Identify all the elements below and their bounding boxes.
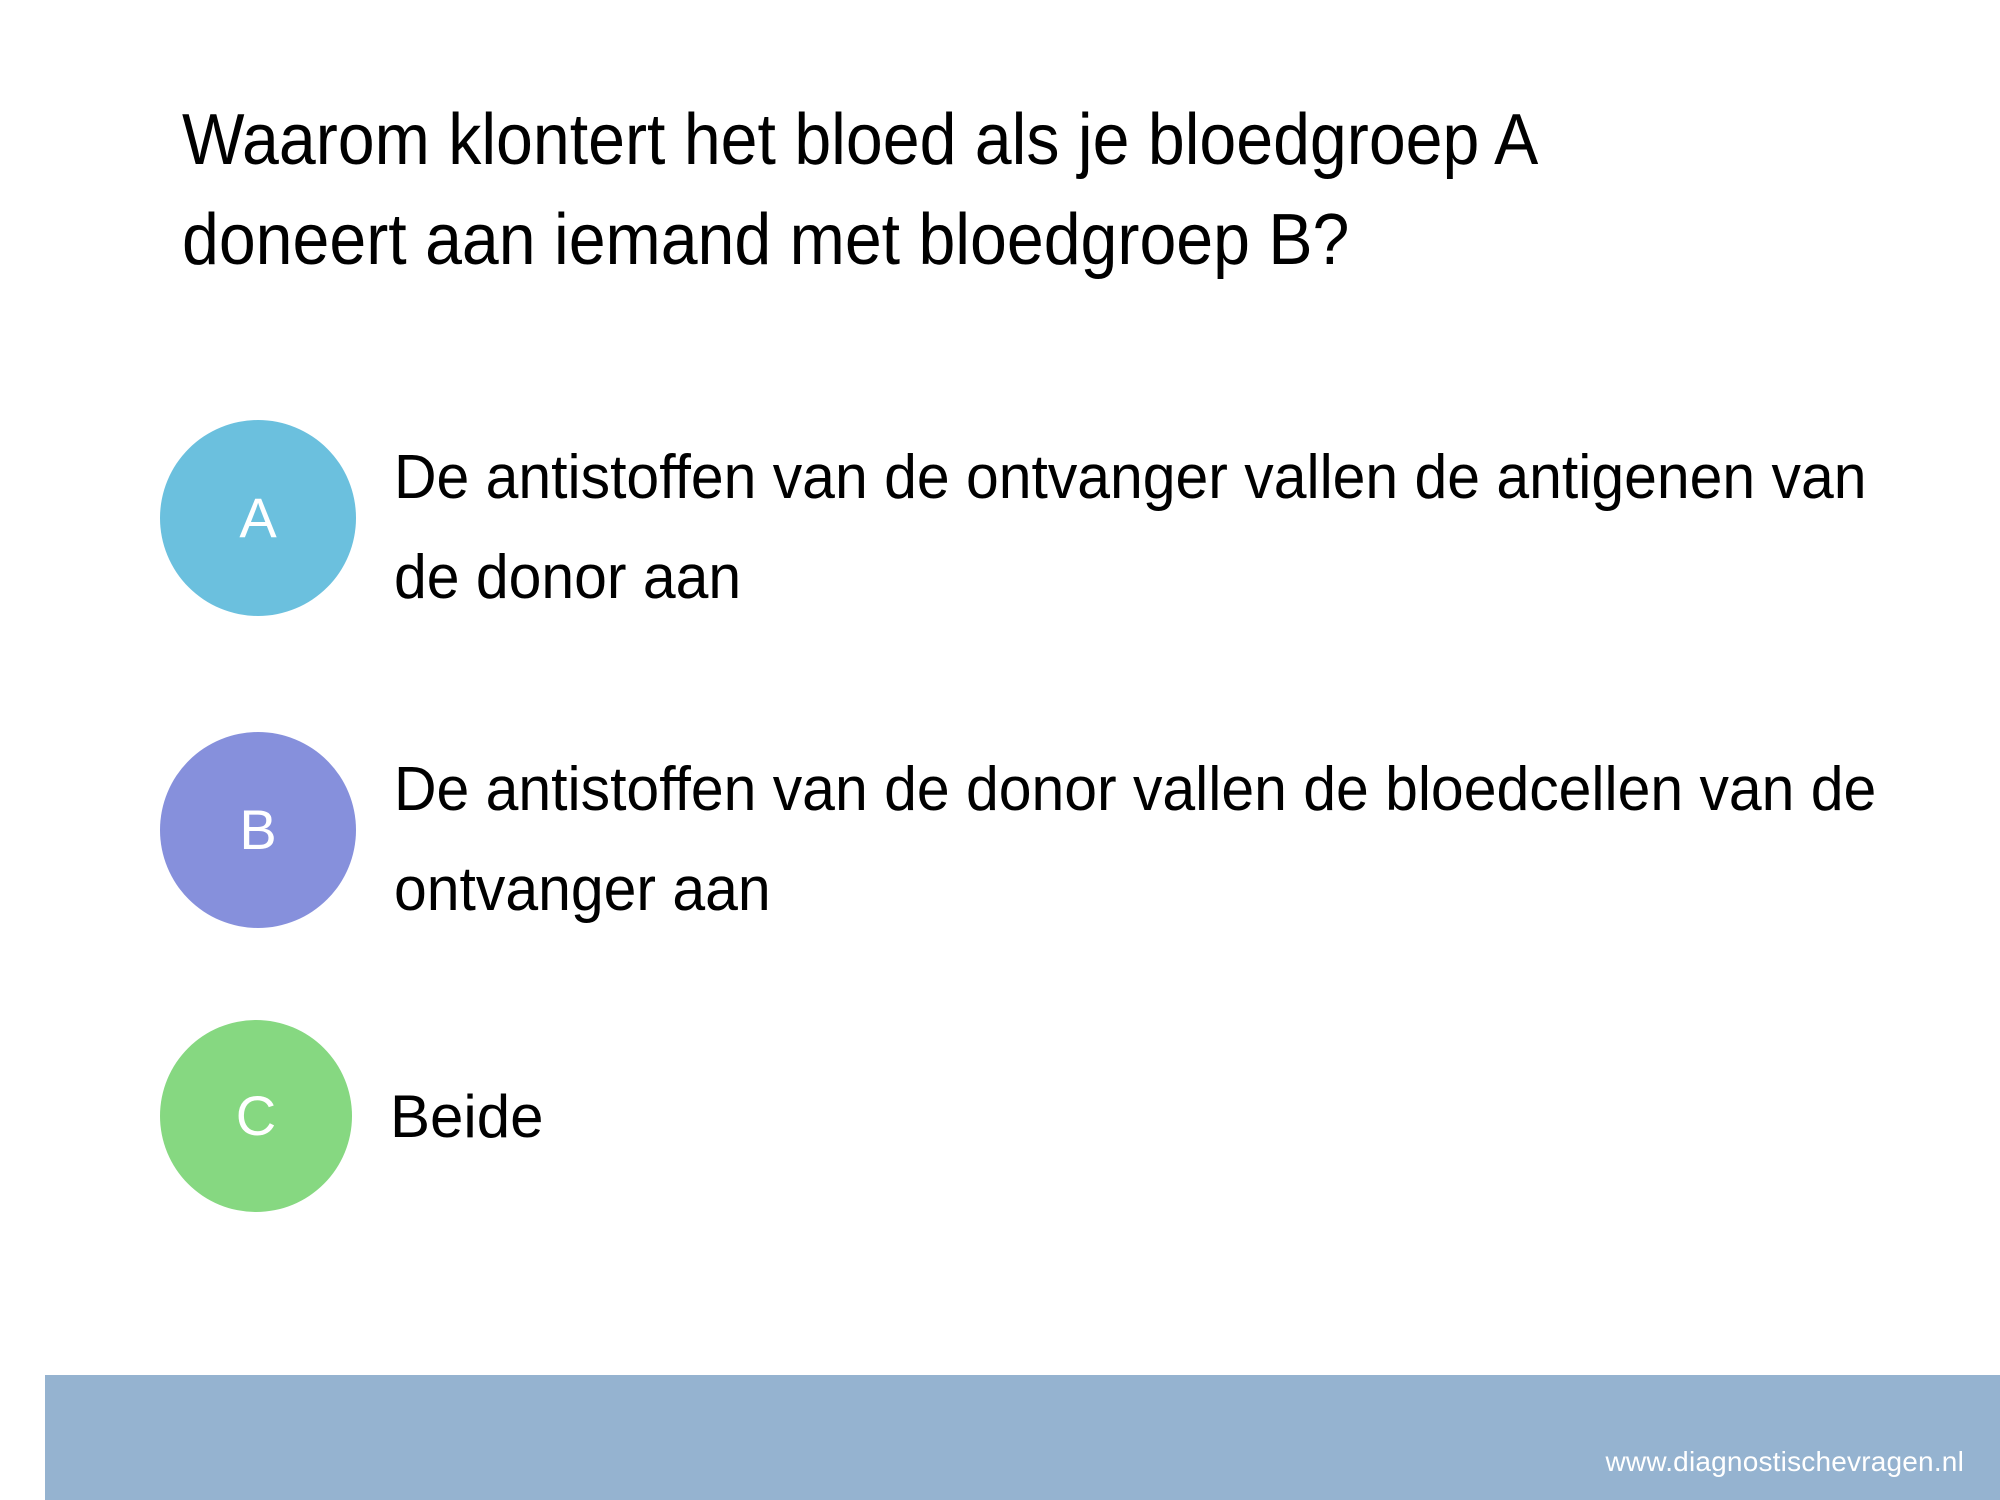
answer-bullet-b[interactable]: B	[160, 732, 356, 928]
answer-option-b[interactable]: B De antistoffen van de donor vallen de …	[160, 732, 1960, 941]
question-title: Waarom klontert het bloed als je bloedgr…	[182, 90, 1746, 290]
answer-bullet-a[interactable]: A	[160, 420, 356, 616]
footer-bar: www.diagnostischevragen.nl	[45, 1375, 2000, 1500]
answer-letter-a: A	[239, 490, 276, 546]
answer-letter-b: B	[239, 802, 276, 858]
answer-text-c: Beide	[390, 1020, 543, 1165]
answer-text-b: De antistoffen van de donor vallen de bl…	[394, 732, 1882, 941]
answer-option-a[interactable]: A De antistoffen van de ontvanger vallen…	[160, 420, 1960, 629]
answer-bullet-c[interactable]: C	[160, 1020, 352, 1212]
answer-option-c[interactable]: C Beide	[160, 1020, 1960, 1212]
answer-letter-c: C	[236, 1088, 276, 1144]
footer-website-url[interactable]: www.diagnostischevragen.nl	[1605, 1446, 1964, 1478]
answer-text-a: De antistoffen van de ontvanger vallen d…	[394, 420, 1882, 629]
slide-canvas: Waarom klontert het bloed als je bloedgr…	[0, 0, 2000, 1500]
